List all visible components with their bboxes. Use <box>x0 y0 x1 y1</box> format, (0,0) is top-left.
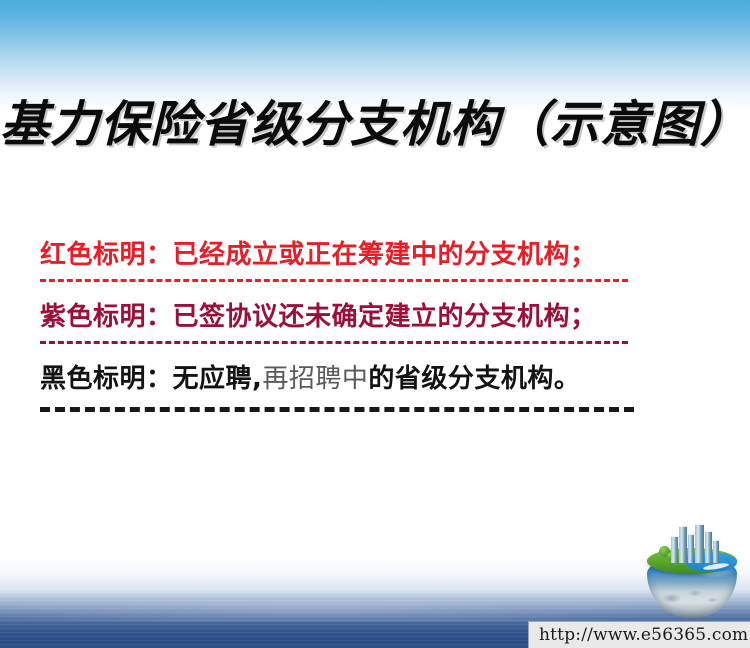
legend-label-black: 黑色标明：无应聘,再招聘中的省级分支机构。 <box>40 360 700 398</box>
legend-divider-red <box>40 279 628 282</box>
slide-canvas: 基力保险省级分支机构（示意图） 红色标明：已经成立或正在筹建中的分支机构； 紫色… <box>0 0 750 648</box>
legend-label-purple: 紫色标明：已签协议还未确定建立的分支机构； <box>40 298 700 336</box>
legend-label-black-part2: 再招聘中 <box>262 364 368 394</box>
building-icon <box>695 524 704 563</box>
legend-label-red: 红色标明：已经成立或正在筹建中的分支机构； <box>40 236 700 274</box>
eco-city-globe-icon <box>645 524 741 624</box>
legend-block: 红色标明：已经成立或正在筹建中的分支机构； 紫色标明：已签协议还未确定建立的分支… <box>40 236 700 428</box>
watermark-url: http://www.e56365.com <box>539 625 748 645</box>
building-icon <box>705 531 712 563</box>
globe-continent-map <box>657 584 723 610</box>
legend-label-black-part1: 黑色标明：无应聘, <box>40 364 262 394</box>
building-icon <box>713 540 719 563</box>
legend-row-red: 红色标明：已经成立或正在筹建中的分支机构； <box>40 236 700 282</box>
sky-gradient-band <box>0 0 750 110</box>
page-title: 基力保险省级分支机构（示意图） <box>0 96 750 153</box>
watermark-bar: http://www.e56365.com <box>528 621 750 648</box>
legend-divider-black <box>40 407 634 412</box>
water-sheen-highlight <box>0 600 750 622</box>
building-icon <box>671 536 678 563</box>
legend-divider-purple <box>40 341 628 344</box>
building-icon <box>679 526 687 563</box>
legend-row-black: 黑色标明：无应聘,再招聘中的省级分支机构。 <box>40 360 700 412</box>
legend-row-purple: 紫色标明：已签协议还未确定建立的分支机构； <box>40 298 700 344</box>
legend-label-black-part3: 的省级分支机构。 <box>368 364 580 394</box>
building-icon <box>688 534 694 563</box>
